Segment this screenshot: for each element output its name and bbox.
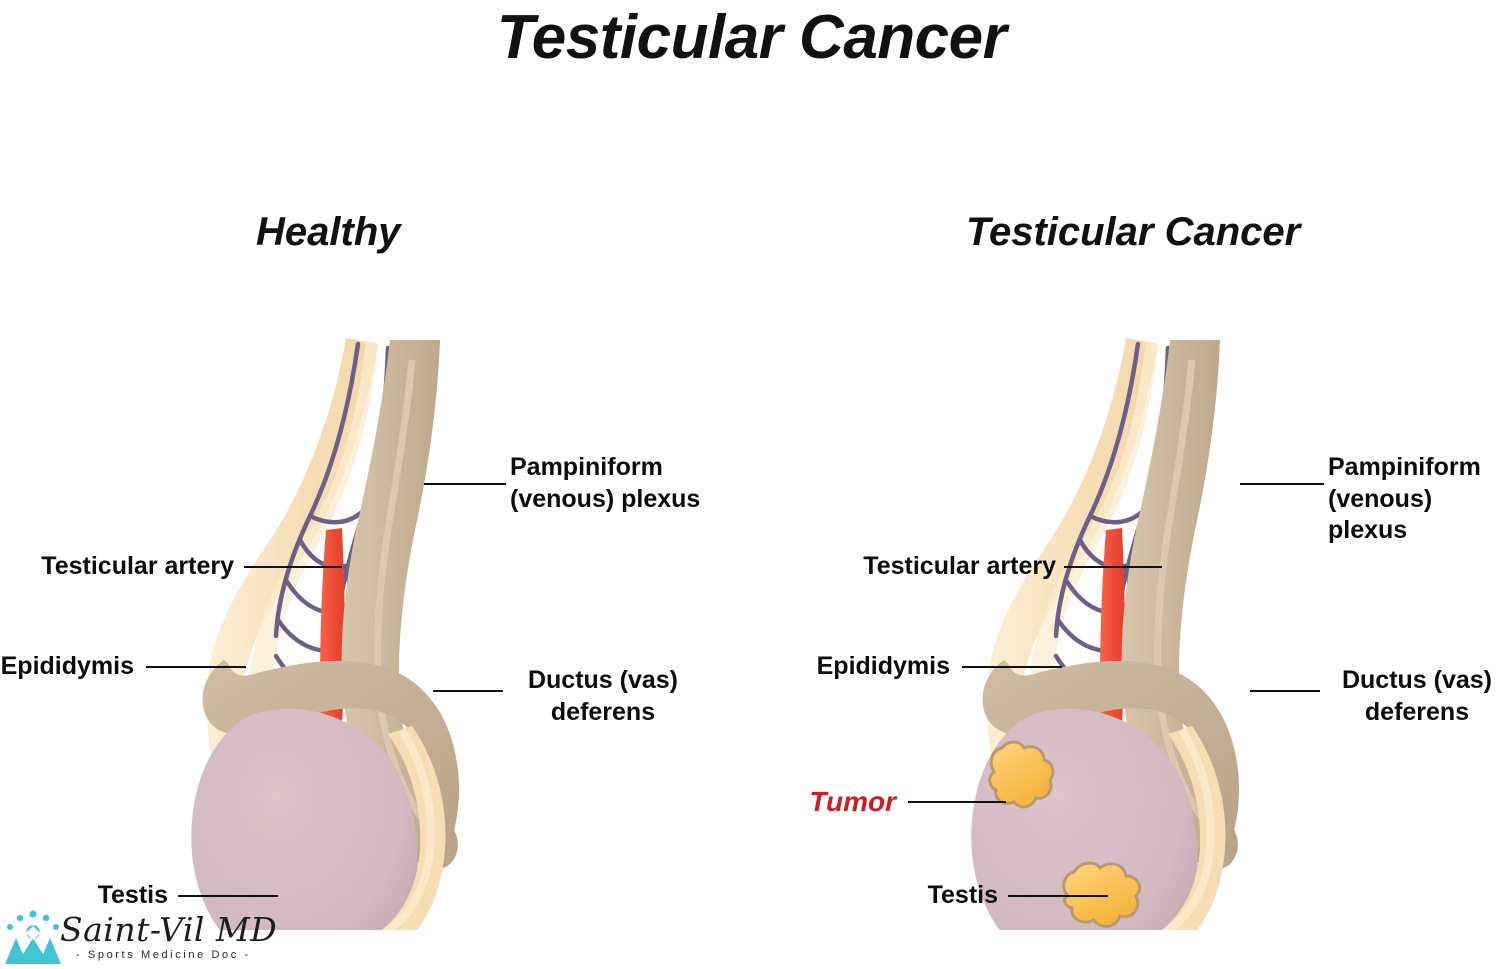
leader-testicular-artery-cancer [1064,566,1162,568]
leader-pampiniform-healthy [424,483,506,485]
logo-tagline: - Sports Medicine Doc - [76,949,251,961]
leader-pampiniform-cancer [1240,483,1324,485]
leader-tumor-cancer [908,801,1006,803]
label-testicular-artery-cancer: Testicular artery [840,551,1056,583]
brand-logo[interactable]: Saint-Vil MD - Sports Medicine Doc - [2,908,262,968]
healthy-anatomy-svg [150,330,490,930]
cancer-anatomy-svg [930,330,1270,930]
leader-epididymis-healthy [146,666,246,668]
label-ductus-deferens-healthy: Ductus (vas) deferens [508,665,698,728]
leader-testis-cancer [1008,895,1108,897]
panel-title-cancer: Testicular Cancer [966,210,1300,255]
label-tumor-cancer: Tumor [776,784,896,819]
figure-testicular-cancer [930,330,1270,930]
diagram-canvas: Testicular Cancer Healthy Testicular Can… [0,0,1503,969]
label-testis-cancer: Testis [870,880,998,912]
leader-testis-healthy [178,895,278,897]
label-pampiniform-plexus-healthy: Pampiniform (venous) plexus [510,452,700,515]
leader-ductus-deferens-cancer [1250,690,1320,692]
leader-testicular-artery-healthy [244,566,342,568]
leader-epididymis-cancer [962,666,1062,668]
label-epididymis-healthy: Epididymis [0,651,134,683]
label-testis-healthy: Testis [40,880,168,912]
two-people-mark-icon [2,908,64,966]
logo-wordmark: Saint-Vil MD [60,910,277,949]
label-testicular-artery-healthy: Testicular artery [18,551,234,583]
label-epididymis-cancer: Epididymis [800,651,950,683]
panel-title-healthy: Healthy [256,210,401,255]
label-pampiniform-plexus-cancer: Pampiniform (venous) plexus [1328,452,1503,547]
figure-healthy [150,330,490,930]
page-title: Testicular Cancer [0,2,1503,73]
label-ductus-deferens-cancer: Ductus (vas) deferens [1322,665,1503,728]
leader-ductus-deferens-healthy [433,690,503,692]
